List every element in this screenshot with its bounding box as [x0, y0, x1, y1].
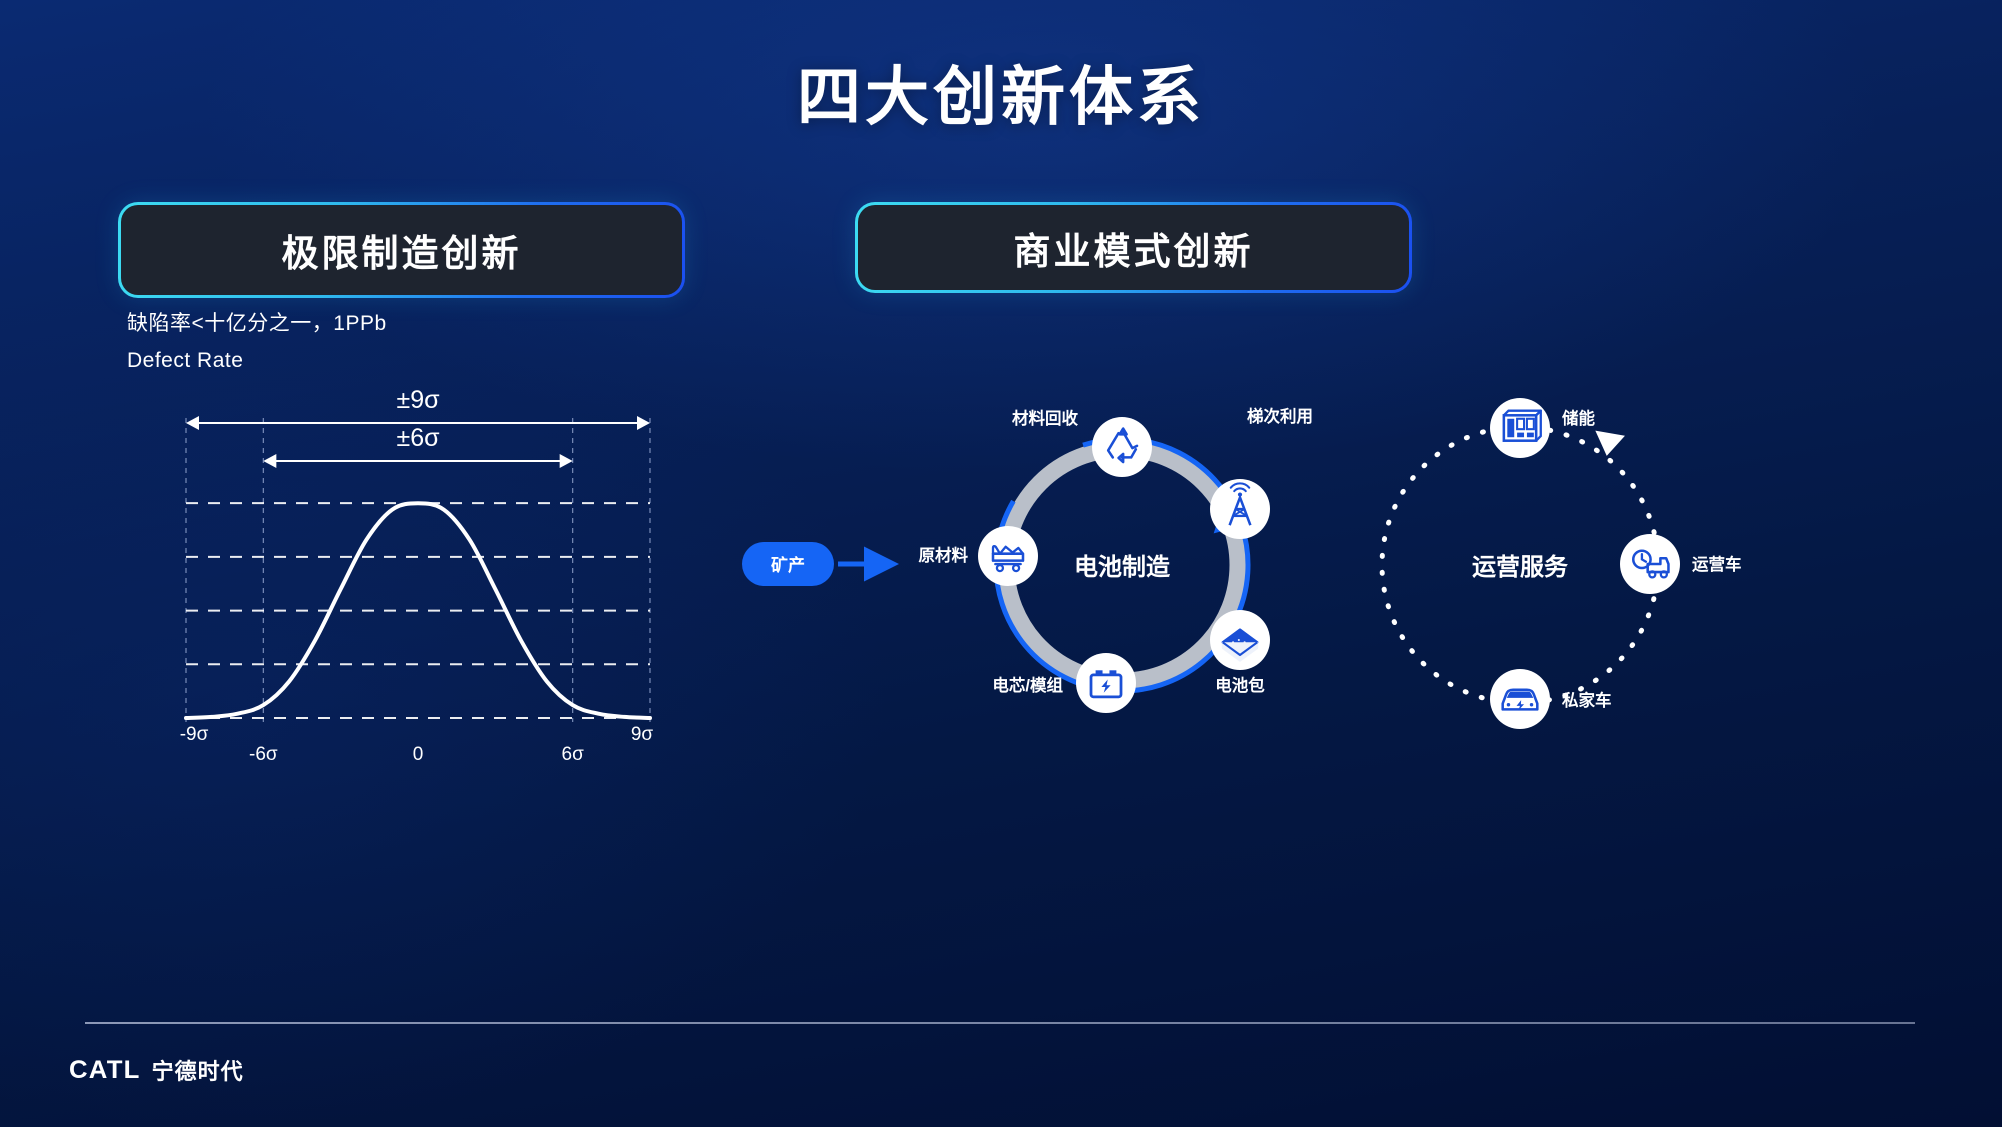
business-cycle-diagram: 矿产 电池制造 运营服务 材料回收梯次利用电池包电芯/模组原材料储能运营车私家车	[720, 400, 1980, 730]
cycle-node-group: 材料回收梯次利用电池包电芯/模组原材料储能运营车私家车	[919, 398, 1742, 729]
cycle-node-label: 电池包	[1215, 675, 1265, 695]
cycle-node[interactable]: 梯次利用	[1210, 406, 1313, 539]
cycle-node-label: 梯次利用	[1247, 406, 1313, 426]
cycle-svg: 矿产 电池制造 运营服务 材料回收梯次利用电池包电芯/模组原材料储能运营车私家车	[720, 400, 1980, 730]
defect-rate-chart: -9σ-6σ06σ9σ ±9σ ±6σ	[150, 368, 670, 788]
chart-x-tick: 0	[413, 744, 424, 765]
operation-cycle-arrowhead	[1593, 431, 1625, 458]
page-title: 四大创新体系	[0, 46, 2002, 138]
chart-x-tick: -9σ	[180, 724, 209, 745]
cycle-node-label: 电芯/模组	[992, 675, 1063, 695]
cycle-node-label: 储能	[1562, 408, 1596, 428]
panel-card-right-inner: 商业模式创新	[858, 205, 1409, 290]
chart-vertical-guides	[186, 418, 650, 722]
panel-card-right: 商业模式创新	[855, 202, 1412, 293]
mineral-source-label: 矿产	[771, 555, 805, 575]
operation-cycle-center-label: 运营服务	[1472, 553, 1569, 581]
defect-rate-line-1: 缺陷率<十亿分之一，1PPb	[127, 305, 387, 342]
cycle-node[interactable]: 运营车	[1620, 534, 1742, 594]
cycle-node[interactable]: 材料回收	[1012, 408, 1152, 477]
chart-gridlines	[186, 503, 650, 718]
chart-x-tick: 6σ	[562, 744, 585, 765]
chart-x-tick-labels: -9σ-6σ06σ9σ	[180, 724, 654, 765]
chart-x-tick: 9σ	[631, 724, 654, 745]
cycle-node-label: 运营车	[1692, 554, 1742, 574]
panel-right-title: 商业模式创新	[1014, 221, 1254, 275]
logo-latin-text: CATL	[69, 1056, 141, 1085]
dimension-label-9sigma: ±9σ	[396, 386, 440, 414]
catl-logo: CATL 宁德时代	[70, 1054, 244, 1086]
cycle-node[interactable]: 原材料	[919, 526, 1039, 586]
chart-svg: -9σ-6σ06σ9σ ±9σ ±6σ	[150, 368, 670, 788]
panel-card-left-inner: 极限制造创新	[121, 205, 682, 295]
footer-divider	[85, 1022, 1915, 1024]
panel-card-left: 极限制造创新	[118, 202, 685, 298]
cycle-node-label: 私家车	[1562, 690, 1612, 710]
cycle-node[interactable]: 储能	[1490, 398, 1596, 458]
cycle-node[interactable]: 电池包	[1210, 610, 1270, 695]
cycle-node-label: 原材料	[919, 545, 969, 565]
dimension-label-6sigma: ±6σ	[396, 424, 440, 452]
chart-x-tick: -6σ	[249, 744, 278, 765]
panel-left-title: 极限制造创新	[282, 223, 522, 277]
mineral-source-badge[interactable]: 矿产	[742, 542, 834, 586]
logo-chinese-text: 宁德时代	[152, 1054, 244, 1086]
cycle-node-label: 材料回收	[1012, 408, 1079, 428]
battery-cycle-center-label: 电池制造	[1074, 554, 1170, 581]
